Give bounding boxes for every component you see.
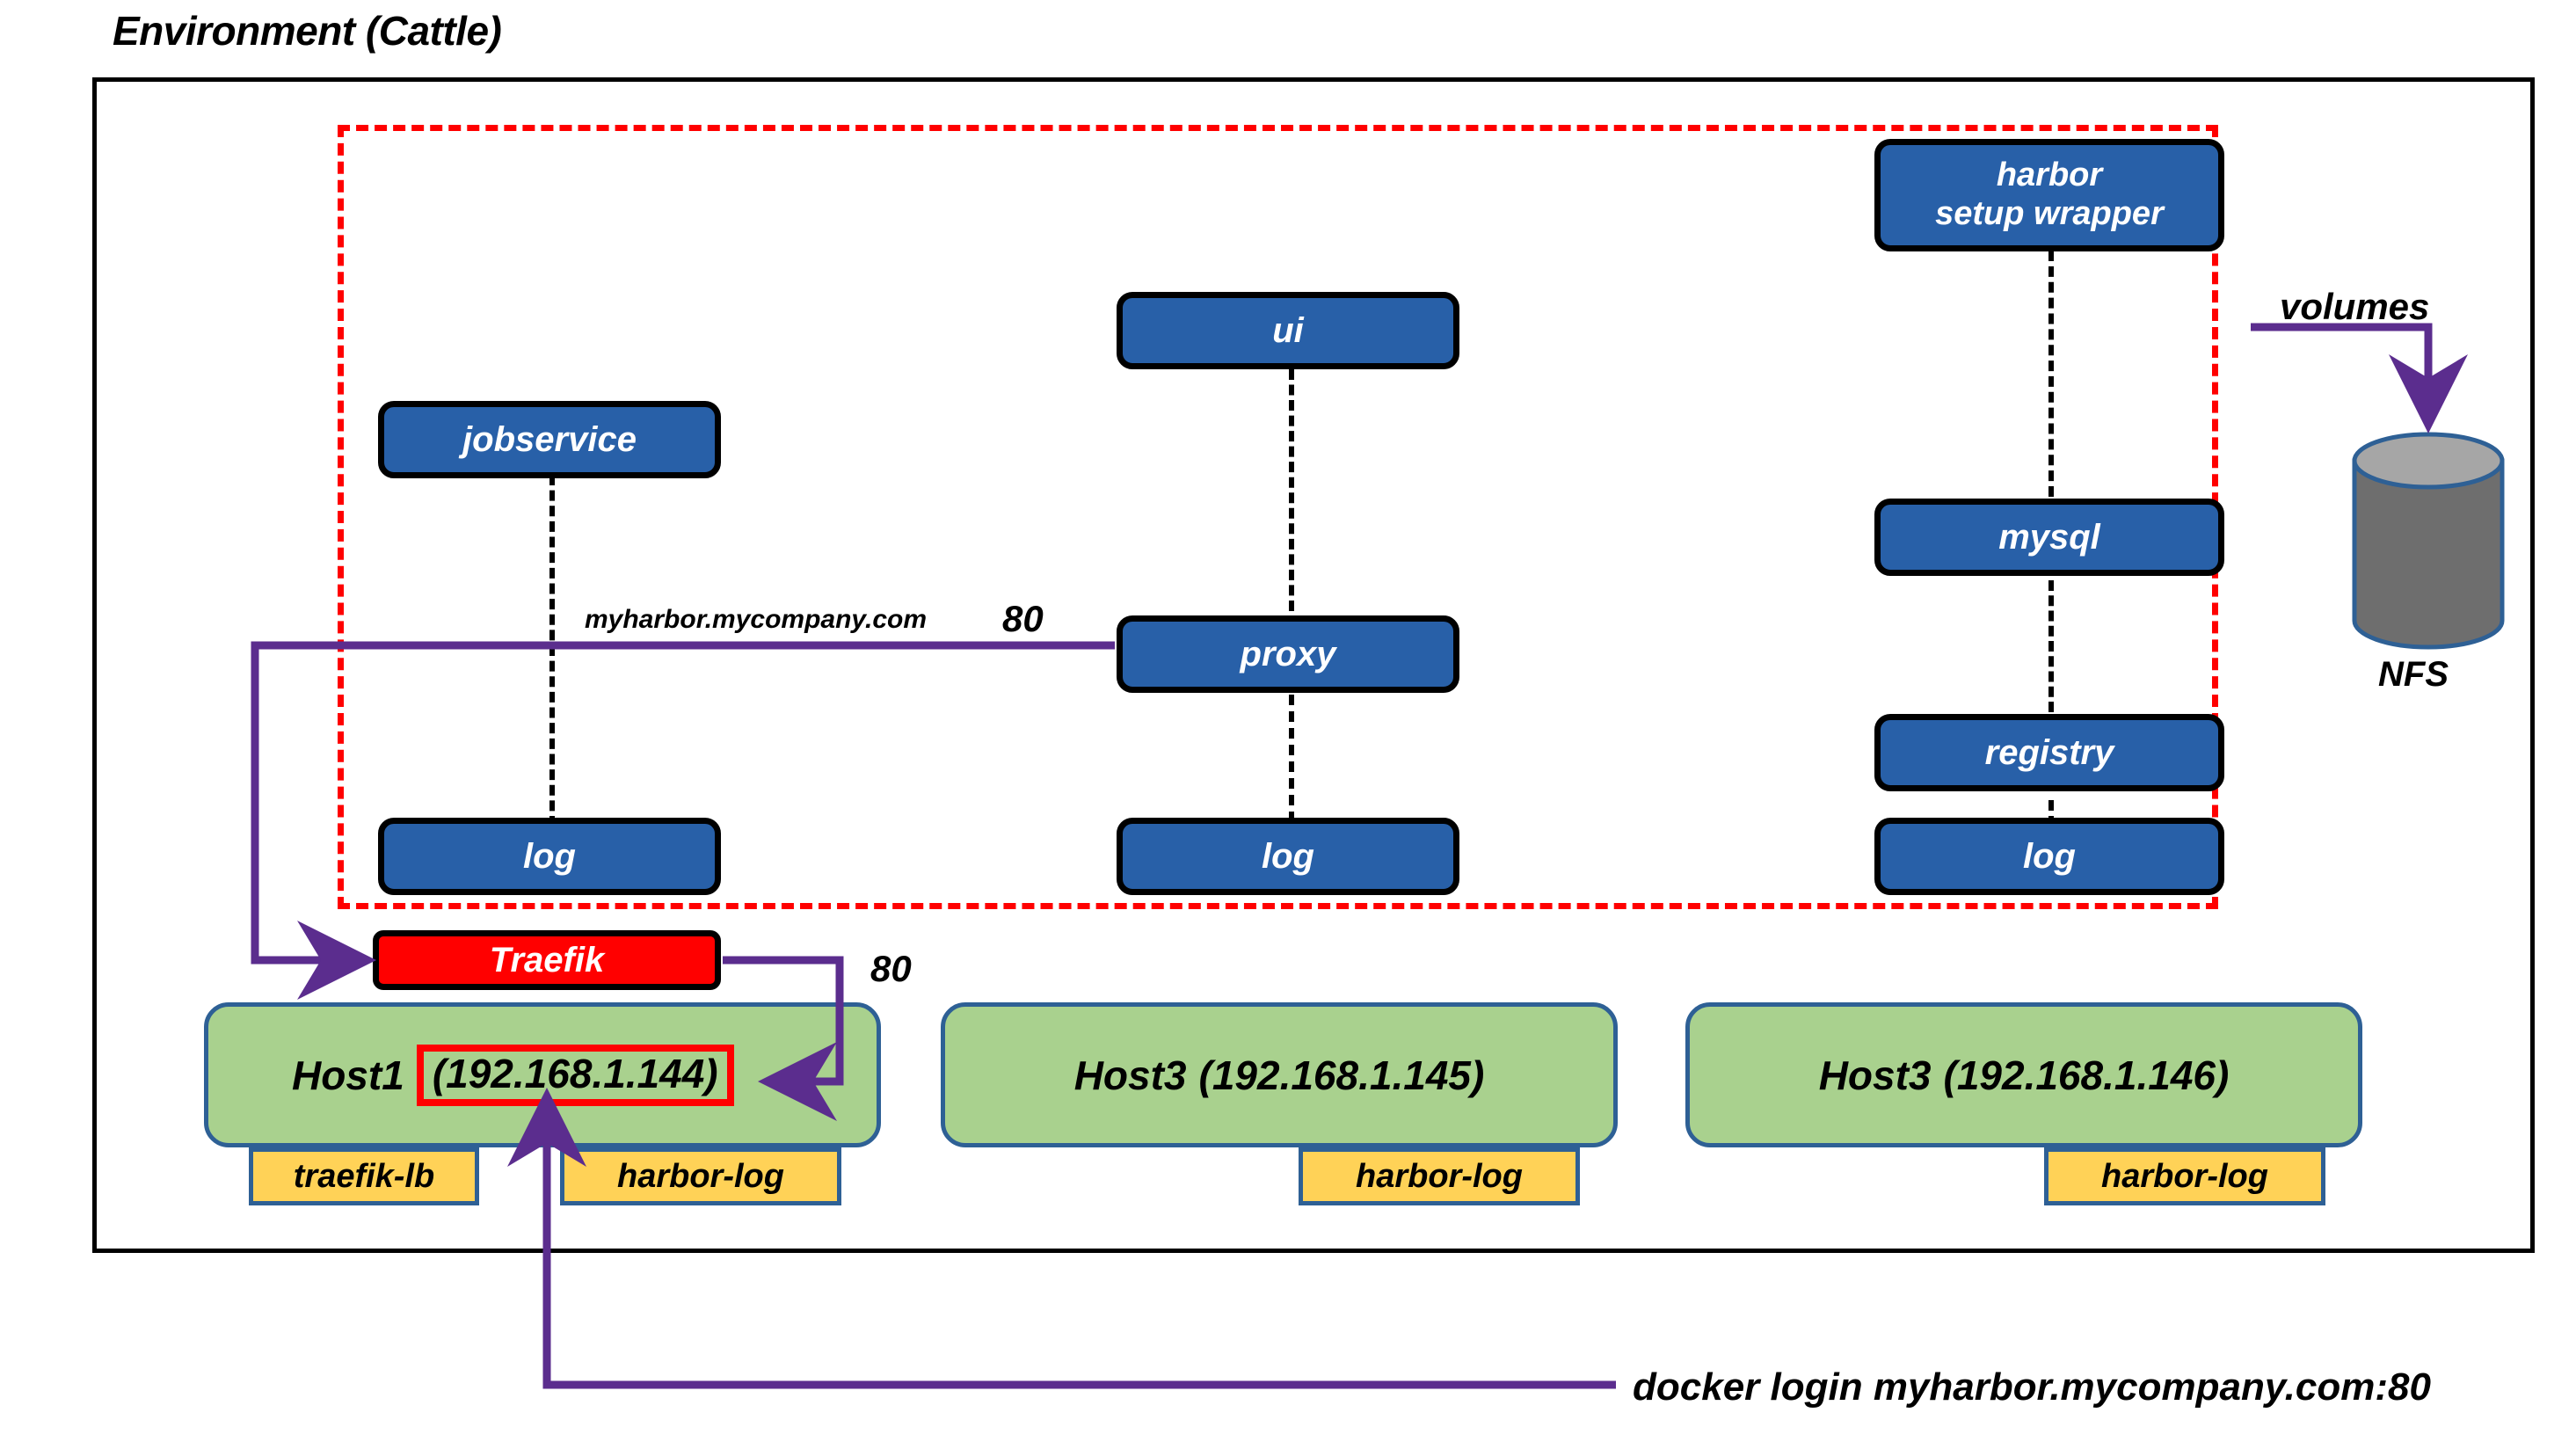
docker-login-label: docker login myharbor.mycompany.com:80 [1633, 1365, 2431, 1409]
hostname-label: myharbor.mycompany.com [585, 605, 927, 635]
host-3-ip: (192.168.1.146) [1944, 1052, 2230, 1099]
nfs-label: NFS [2378, 655, 2449, 695]
nfs-cylinder-icon [2349, 431, 2507, 651]
traefik-box[interactable]: Traefik [373, 930, 721, 990]
environment-title: Environment (Cattle) [113, 7, 501, 55]
connector-jobservice-log [549, 475, 555, 826]
service-box-log-left[interactable]: log [378, 818, 721, 895]
host-2-ip: (192.168.1.145) [1199, 1052, 1485, 1099]
host-3-name: Host3 [1819, 1052, 1932, 1099]
host-box-2[interactable]: Host3 (192.168.1.145) [941, 1002, 1618, 1147]
tag-harbor-log-host3[interactable]: harbor-log [2044, 1147, 2325, 1205]
service-box-jobservice[interactable]: jobservice [378, 401, 721, 478]
connector-ui-proxy [1289, 369, 1294, 642]
proxy-port-label: 80 [1002, 598, 1044, 640]
tag-harbor-log-host1[interactable]: harbor-log [560, 1147, 841, 1205]
host-1-ip-highlight: (192.168.1.144) [417, 1045, 734, 1106]
service-box-proxy[interactable]: proxy [1117, 615, 1459, 693]
host-1-name: Host1 [292, 1052, 404, 1099]
tag-harbor-log-host2[interactable]: harbor-log [1299, 1147, 1580, 1205]
service-box-mysql[interactable]: mysql [1874, 499, 2224, 576]
service-box-registry[interactable]: registry [1874, 714, 2224, 791]
service-box-log-right[interactable]: log [1874, 818, 2224, 895]
volumes-label: volumes [2280, 286, 2429, 328]
nfs-cylinder [2349, 431, 2507, 651]
host-box-3[interactable]: Host3 (192.168.1.146) [1685, 1002, 2362, 1147]
connector-mysql-registry [2048, 580, 2054, 712]
host-2-name: Host3 [1074, 1052, 1187, 1099]
service-box-ui[interactable]: ui [1117, 292, 1459, 369]
host-box-1[interactable]: Host1 (192.168.1.144) [204, 1002, 881, 1147]
connector-proxy-log [1289, 695, 1294, 822]
connector-wrapper-mysql [2048, 251, 2054, 497]
traefik-port-label: 80 [870, 948, 912, 990]
diagram-canvas: Environment (Cattle) jobservice log ui p… [0, 0, 2576, 1449]
service-box-harbor-setup-wrapper[interactable]: harbor setup wrapper [1874, 139, 2224, 251]
tag-traefik-lb[interactable]: traefik-lb [249, 1147, 479, 1205]
service-box-log-middle[interactable]: log [1117, 818, 1459, 895]
